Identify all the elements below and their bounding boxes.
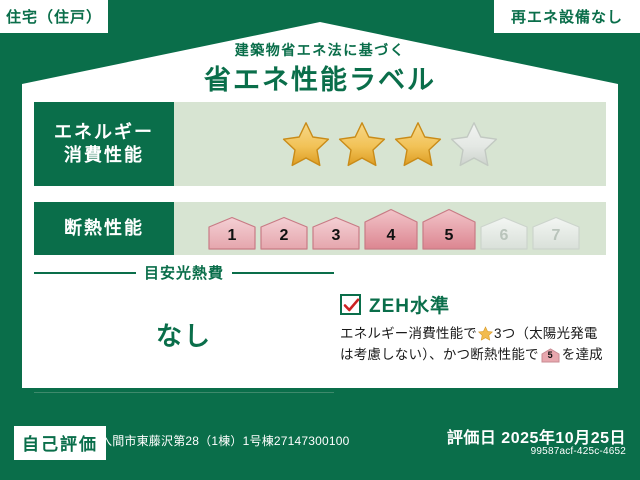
insulation-level-badge: 1 [207,216,257,250]
house-badge-icon-filled [363,208,419,250]
house-badge-icon-filled [421,208,477,250]
energy-performance-row: エネルギー 消費性能 [34,102,606,186]
check-icon [343,297,360,314]
label-footer: 自己評価 入間市東藤沢第28（1棟）1号棟27147300100 評価日 202… [0,412,640,480]
insulation-level-badge: 7 [531,216,581,250]
renewable-equipment-tag-label: 再エネ設備なし [511,6,623,27]
building-type-tag: 住宅（住戸） [0,0,108,33]
star-icon-empty [449,120,499,168]
self-evaluation-tag: 自己評価 [14,426,106,460]
energy-stars-area [174,102,606,186]
label-subtitle: 建築物省エネ法に基づく [0,40,640,60]
insulation-level-badge: 4 [363,208,419,250]
zeh-description: エネルギー消費性能で 3つ（太陽光発電は考慮しない）、かつ断熱性能で 5 を達成 [340,324,608,366]
building-type-tag-label: 住宅（住戸） [6,6,102,27]
zeh-standard-block: ZEH水準 エネルギー消費性能で 3つ（太陽光発電は考慮しない）、かつ断熱性能で… [340,291,608,366]
house-badge-icon-empty [479,216,529,250]
renewable-equipment-tag: 再エネ設備なし [494,0,640,33]
energy-performance-label: 住宅（住戸） 再エネ設備なし 建築物省エネ法に基づく 省エネ性能ラベル エネルギ… [0,0,640,480]
label-title: 省エネ性能ラベル [0,58,640,97]
rule-left [34,272,136,274]
utility-cost-value: なし [34,316,334,353]
insulation-levels-area: 1234567 [174,202,606,255]
energy-label-line-2: 消費性能 [64,144,144,167]
energy-performance-label-box: エネルギー 消費性能 [34,102,174,186]
evaluation-date: 評価日 2025年10月25日 [447,424,626,448]
star-rating [281,120,499,168]
inline-house-badge-number: 5 [541,349,560,363]
house-badge-icon-filled [207,216,257,250]
insulation-performance-row: 断熱性能 1234567 [34,202,606,255]
evaluation-date-value: 2025年10月25日 [501,430,626,447]
zeh-desc-part-1: エネルギー消費性能で [340,326,477,341]
zeh-desc-part-3: を達成 [562,347,603,362]
insulation-level-badge: 2 [259,216,309,250]
house-badge-icon-filled [259,216,309,250]
insulation-performance-label-box: 断熱性能 [34,202,174,255]
inline-insulation-badge: 5 [541,348,560,363]
insulation-level-badge: 3 [311,216,361,250]
star-icon-filled [281,120,331,168]
zeh-checkbox[interactable] [340,294,361,315]
insulation-label: 断熱性能 [64,217,144,240]
evaluation-date-label: 評価日 [447,430,497,447]
inline-star-icon [478,326,493,341]
star-icon-filled [393,120,443,168]
property-address: 入間市東藤沢第28（1棟）1号棟27147300100 [100,432,350,449]
utility-cost-heading: 目安光熱費 [34,262,334,283]
rule-right [232,272,334,274]
star-icon-filled [337,120,387,168]
evaluation-id: 99587acf-425c-4652 [531,446,626,457]
energy-label-line-1: エネルギー [54,121,154,144]
utility-cost-underline [34,392,334,393]
house-badge-icon-filled [311,216,361,250]
house-badge-icon-empty [531,216,581,250]
insulation-level-badge: 6 [479,216,529,250]
zeh-title-label: ZEH水準 [369,291,450,318]
insulation-level-scale: 1234567 [199,208,581,250]
insulation-level-badge: 5 [421,208,477,250]
zeh-title-row: ZEH水準 [340,291,608,318]
utility-cost-heading-label: 目安光熱費 [144,262,224,283]
